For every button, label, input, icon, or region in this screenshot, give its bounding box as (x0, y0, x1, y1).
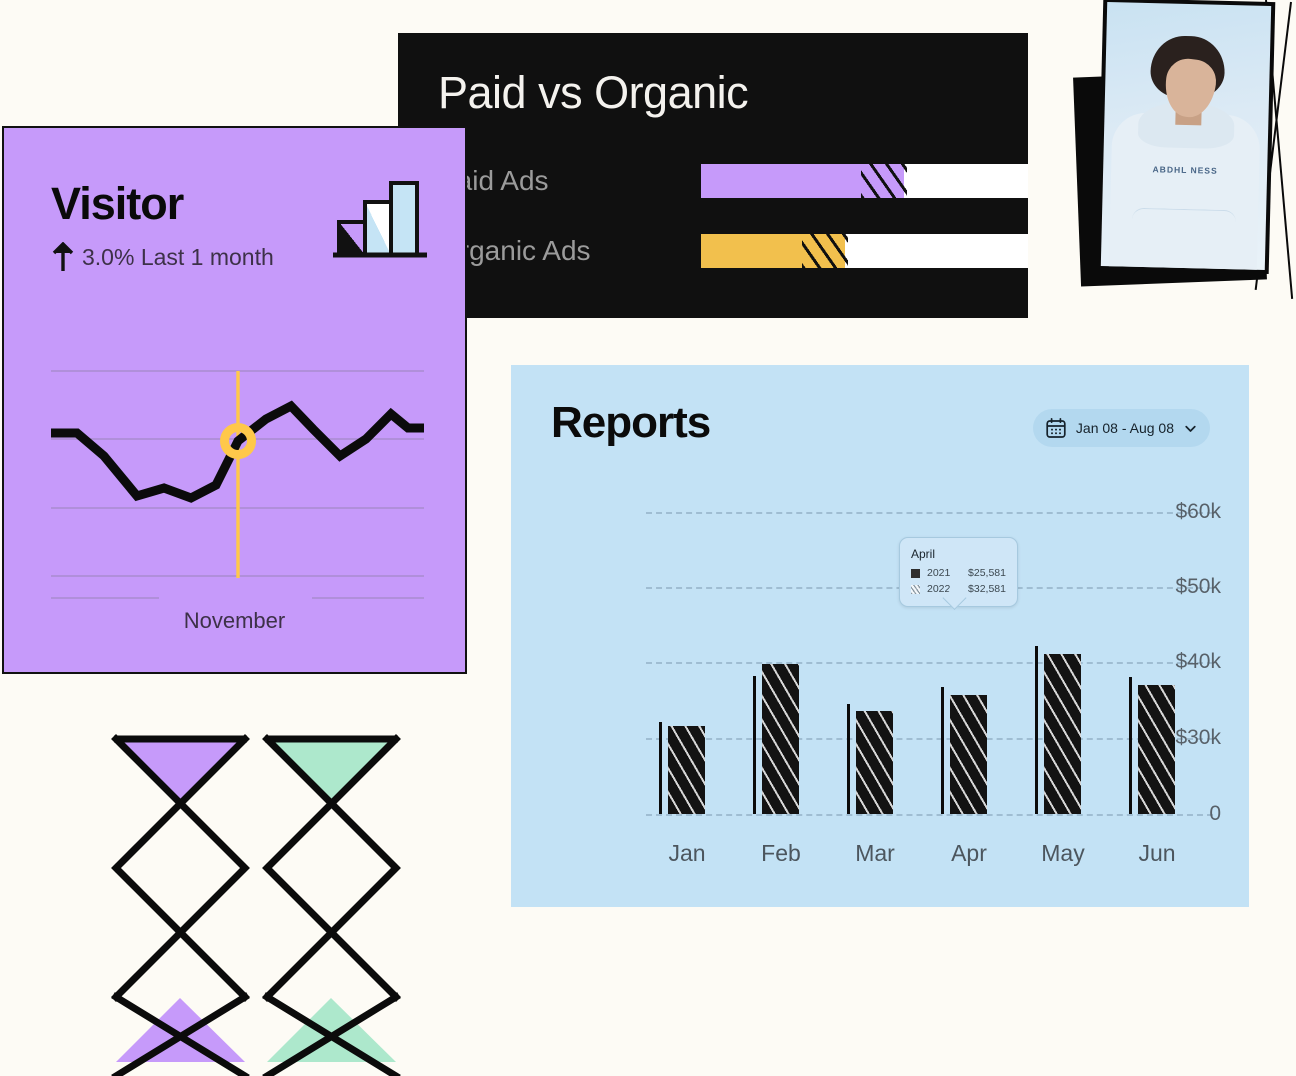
tooltip-row-2022: 2022 $32,581 (911, 583, 1006, 595)
bar-2022-jun (1138, 685, 1175, 814)
bar-2021-jun (1129, 677, 1132, 814)
zigzag-decorations (100, 725, 410, 1076)
xaxis-label-jun: Jun (1117, 840, 1197, 867)
bar-2021-feb (753, 676, 756, 814)
arrow-up-icon (51, 242, 75, 272)
zigzag-column-mint (265, 739, 398, 1076)
visitor-month-label: November (4, 608, 465, 634)
bar-2021-may (1035, 646, 1038, 814)
bar-2022-mar (856, 711, 893, 814)
bar-2021-jan (659, 722, 662, 814)
bar-group-feb[interactable] (753, 614, 809, 814)
tooltip-year-2021: 2021 (927, 567, 965, 579)
bar-2021-mar (847, 704, 850, 814)
date-range-value: Jan 08 - Aug 08 (1076, 420, 1174, 436)
date-range-picker[interactable]: Jan 08 - Aug 08 (1033, 409, 1210, 447)
dashboard-collage: ABDHL NESS Paid vs Organic Paid Ads Orga… (0, 0, 1296, 1076)
legend-swatch-2022 (911, 585, 920, 594)
paid-ads-row: Paid Ads (438, 164, 998, 198)
xaxis-label-apr: Apr (929, 840, 1009, 867)
tooltip-value-2021: $25,581 (968, 567, 1006, 579)
chart-tooltip: April 2021 $25,581 2022 $32,581 (899, 537, 1018, 607)
legend-swatch-2021 (911, 569, 920, 578)
hoodie-pocket (1131, 208, 1236, 259)
gridline-40k (646, 662, 1213, 664)
bar-group-jan[interactable] (659, 614, 715, 814)
person-in-hoodie-photo: ABDHL NESS (1097, 0, 1276, 274)
zigzag-column-purple (114, 739, 247, 1076)
paid-ads-progress-hatch (861, 164, 907, 198)
visitor-line-chart (4, 343, 465, 633)
xaxis-label-may: May (1023, 840, 1103, 867)
xaxis-label-feb: Feb (741, 840, 821, 867)
chevron-down-icon (1183, 421, 1198, 436)
tooltip-title: April (911, 547, 1006, 561)
bar-2022-may (1044, 654, 1081, 814)
xaxis-label-mar: Mar (835, 840, 915, 867)
bar-group-may[interactable] (1035, 614, 1091, 814)
paid-vs-organic-title: Paid vs Organic (438, 67, 748, 119)
bar-group-mar[interactable] (847, 614, 903, 814)
bar-group-jun[interactable] (1129, 614, 1185, 814)
bar-2022-jan (668, 726, 705, 814)
gridline-0 (646, 814, 1213, 816)
bar-group-apr[interactable] (941, 614, 997, 814)
photo-image: ABDHL NESS (1101, 2, 1271, 270)
tooltip-row-2021: 2021 $25,581 (911, 567, 1006, 579)
xaxis-label-jan: Jan (647, 840, 727, 867)
reports-card: Reports Jan 08 - Aug 08 (511, 365, 1249, 907)
organic-ads-progress-hatch (802, 234, 848, 268)
bar-chart-icon (331, 176, 429, 266)
hoodie-graphic-text: ABDHL NESS (1153, 164, 1218, 176)
tooltip-value-2022: $32,581 (968, 583, 1006, 595)
reports-title: Reports (551, 398, 710, 448)
visitor-card: Visitor 3.0% Last 1 month (2, 126, 467, 674)
yaxis-label-60k: $60k (1129, 500, 1221, 524)
calendar-icon (1045, 417, 1067, 439)
paid-ads-progress-track[interactable] (701, 164, 1028, 198)
gridline-30k (646, 738, 1213, 740)
bar-2022-feb (762, 664, 799, 814)
visitor-delta-text: 3.0% Last 1 month (82, 244, 274, 271)
organic-ads-progress-track[interactable] (701, 234, 1028, 268)
tooltip-year-2022: 2022 (927, 583, 965, 595)
yaxis-label-50k: $50k (1129, 575, 1221, 599)
bar-2021-apr (941, 687, 944, 814)
reports-bar-chart: $60k $50k $40k $30k 0 (541, 485, 1221, 875)
paid-vs-organic-card: Paid vs Organic Paid Ads Organic Ads (398, 33, 1028, 318)
gridline-60k (646, 512, 1213, 514)
bar-2022-apr (950, 695, 987, 814)
organic-ads-row: Organic Ads (438, 234, 998, 268)
visitor-title: Visitor (51, 178, 183, 230)
